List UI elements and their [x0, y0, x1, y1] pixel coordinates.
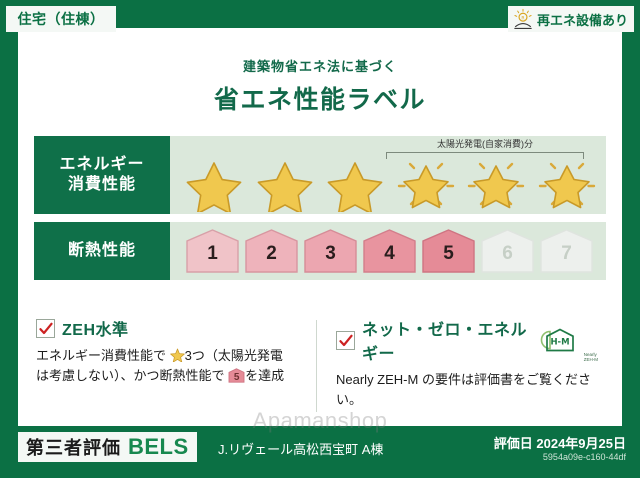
bels-badge: 第三者評価 BELS [18, 432, 197, 462]
zeh-body-star-count: 3つ（太陽光発電 [185, 348, 283, 363]
insulation-level-5: 5 [420, 228, 477, 274]
zeh-standard-block: ZEH水準 エネルギー消費性能で 3つ（太陽光発電 は考慮しない）、かつ断熱性能… [36, 316, 322, 410]
zeh-body-part1: エネルギー消費性能で [36, 348, 166, 363]
star-solar-6 [533, 158, 601, 212]
insulation-row-header: 断熱性能 [34, 222, 170, 280]
label-card: 建築物省エネ法に基づく 省エネ性能ラベル エネルギー 消費性能 太陽光発電(自家… [18, 28, 622, 426]
checkbox-checked-icon-2 [336, 331, 355, 350]
insulation-level-7-label: 7 [538, 243, 595, 265]
net-zero-energy-title: ネット・ゼロ・エネルギー [362, 316, 532, 364]
label-title-block: 建築物省エネ法に基づく 省エネ性能ラベル [18, 56, 622, 116]
renewable-equipment-badge: R 再エネ設備あり [508, 6, 634, 32]
building-name: J.リヴェール高松西宝町 A棟 [218, 439, 383, 458]
title-subtitle: 建築物省エネ法に基づく [18, 56, 622, 75]
svg-text:H-M: H-M [550, 338, 569, 348]
renewable-badge-label: 再エネ設備あり [537, 10, 628, 29]
checkbox-checked-icon [36, 319, 55, 338]
star-rating-strip [180, 158, 600, 212]
energy-performance-label: 住宅（住棟） R 再エネ設備あり 建築物省エネ法に基づく 省エネ性能ラベル [0, 0, 640, 478]
insulation-level-4: 4 [361, 228, 418, 274]
footer-band: 第三者評価 BELS J.リヴェール高松西宝町 A棟 評価日 2024年9月25… [0, 426, 640, 478]
zeh-m-logo-caption: Nearly ZEH-M [584, 352, 598, 364]
zeh-m-house-logo-icon: H-M [539, 327, 577, 353]
insulation-performance-row: 断熱性能 1 2 3 [34, 222, 606, 280]
net-zero-energy-block: ネット・ゼロ・エネルギー H-M Nearly ZEH-M Nearly ZEH… [322, 316, 608, 410]
insulation-level-5-label: 5 [420, 243, 477, 265]
star-filled-2 [251, 158, 319, 212]
energy-row-header-line2: 消費性能 [68, 175, 136, 195]
insulation-row-body: 1 2 3 4 [170, 222, 606, 280]
insulation-level-3-label: 3 [302, 243, 359, 265]
star-solar-4 [392, 158, 460, 212]
zeh-standard-body: エネルギー消費性能で 3つ（太陽光発電 は考慮しない）、かつ断熱性能で 5 を達… [36, 346, 312, 386]
star-filled-3 [321, 158, 389, 212]
house-type-badge-label: 住宅（住棟） [18, 9, 105, 29]
net-zero-energy-header: ネット・ゼロ・エネルギー H-M Nearly ZEH-M [336, 316, 598, 364]
insulation-level-6-label: 6 [479, 243, 536, 265]
inline-star-icon [170, 348, 185, 362]
inline-house-level-icon: 5 [228, 368, 245, 383]
insulation-level-3: 3 [302, 228, 359, 274]
energy-row-body: 太陽光発電(自家消費)分 [170, 136, 606, 214]
insulation-level-6: 6 [479, 228, 536, 274]
bels-label: BELS [128, 434, 189, 460]
inline-house-level-label: 5 [228, 370, 245, 386]
net-zero-energy-body: Nearly ZEH-M の要件は評価書をご覧ください。 [336, 370, 598, 410]
info-section: ZEH水準 エネルギー消費性能で 3つ（太陽光発電 は考慮しない）、かつ断熱性能… [36, 316, 608, 410]
energy-row-header-line1: エネルギー [59, 155, 144, 175]
zeh-body-part3: を達成 [245, 368, 284, 383]
evaluation-id: 5954a09e-c160-44df [543, 452, 626, 462]
evaluation-date: 評価日 2024年9月25日 [494, 433, 626, 452]
sun-icon: R [512, 8, 534, 30]
house-type-badge: 住宅（住棟） [6, 6, 116, 32]
insulation-level-2: 2 [243, 228, 300, 274]
energy-row-header: エネルギー 消費性能 [34, 136, 170, 214]
zeh-standard-title: ZEH水準 [62, 316, 129, 340]
insulation-level-7: 7 [538, 228, 595, 274]
star-solar-5 [462, 158, 530, 212]
energy-performance-row: エネルギー 消費性能 太陽光発電(自家消費)分 [34, 136, 606, 214]
insulation-row-header-line1: 断熱性能 [68, 241, 136, 261]
insulation-level-strip: 1 2 3 4 [184, 227, 598, 275]
star-filled-1 [180, 158, 248, 212]
zeh-m-logo-caption-line2: ZEH-M [584, 357, 598, 362]
zeh-body-part2: は考慮しない）、かつ断熱性能で [36, 368, 225, 383]
performance-rows: エネルギー 消費性能 太陽光発電(自家消費)分 [34, 136, 606, 288]
solar-bracket: 太陽光発電(自家消費)分 [382, 138, 588, 160]
insulation-level-1: 1 [184, 228, 241, 274]
insulation-level-4-label: 4 [361, 243, 418, 265]
third-party-label: 第三者評価 [26, 434, 121, 460]
solar-bracket-label: 太陽光発電(自家消費)分 [382, 137, 588, 150]
insulation-level-2-label: 2 [243, 243, 300, 265]
zeh-standard-header: ZEH水準 [36, 316, 312, 340]
insulation-level-1-label: 1 [184, 243, 241, 265]
title-main: 省エネ性能ラベル [18, 80, 622, 116]
